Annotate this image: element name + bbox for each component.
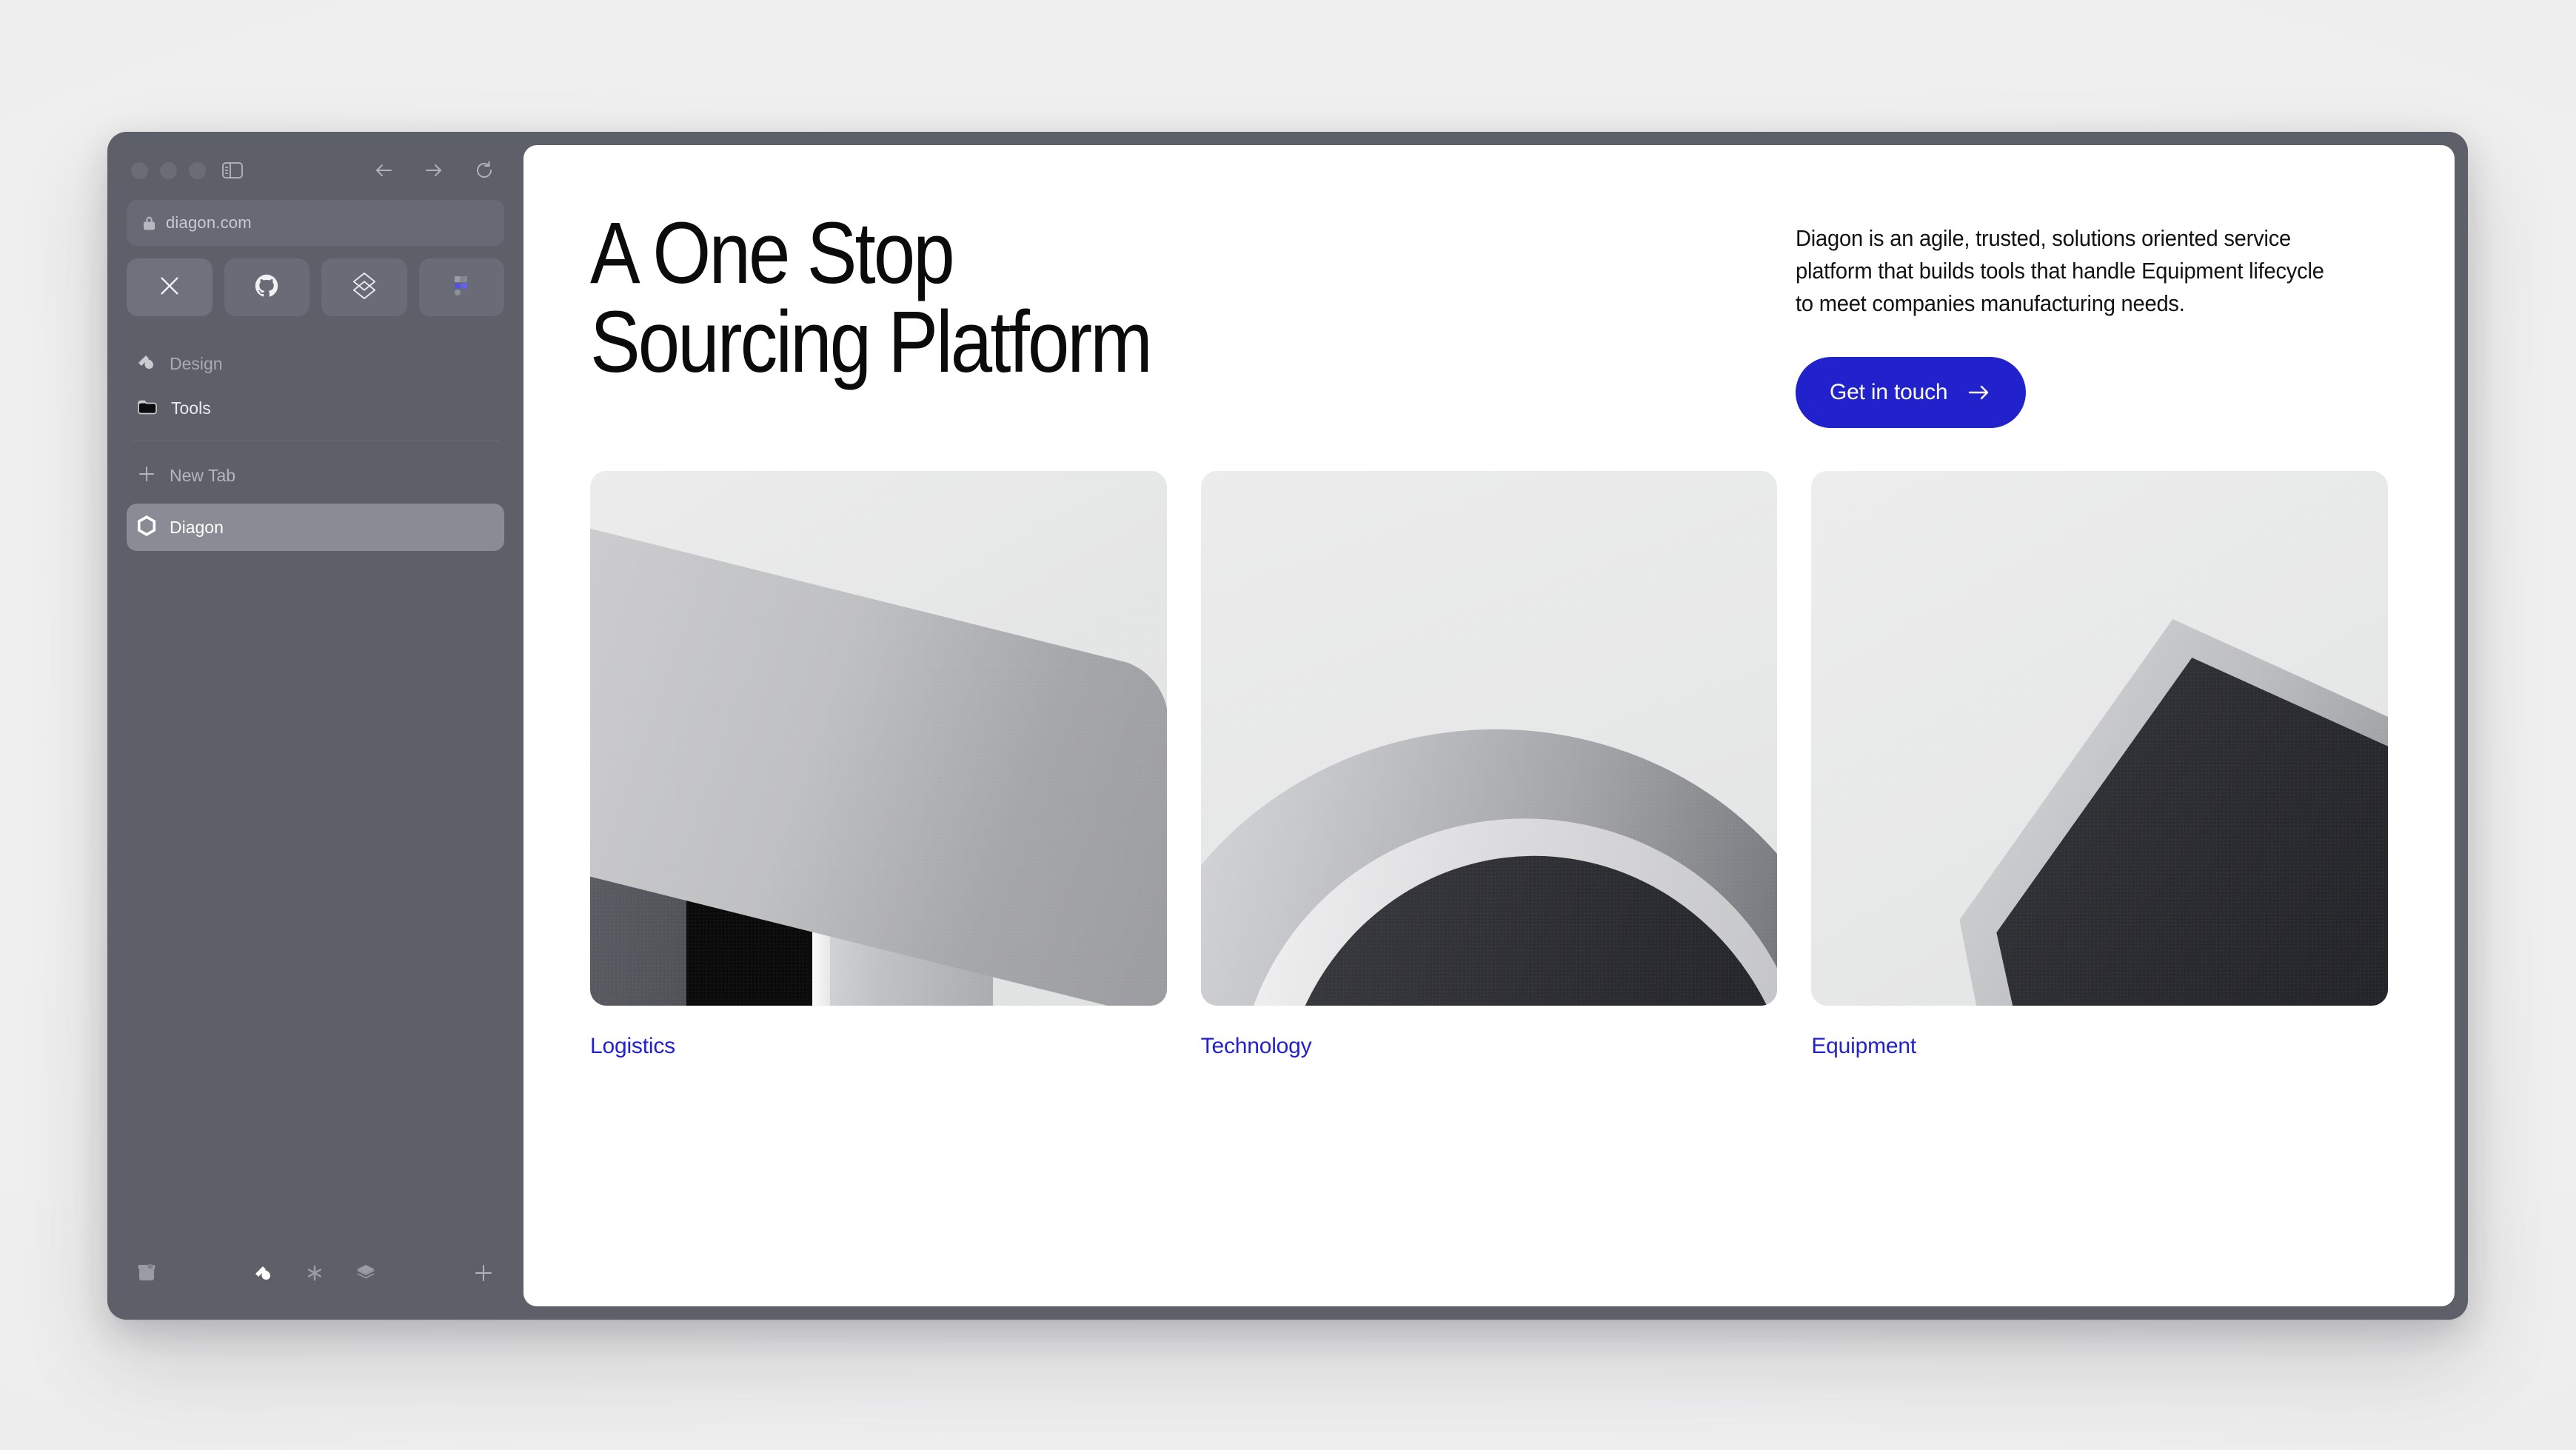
metallic-angled-panel-render [1811, 471, 2388, 1006]
sidebar-item-label: Tools [171, 398, 211, 418]
sidebar-item-tools[interactable]: Tools [127, 386, 504, 430]
sidebar-divider [131, 441, 500, 441]
get-in-touch-button[interactable]: Get in touch [1796, 357, 2026, 428]
page-title: A One Stop Sourcing Platform [590, 209, 1533, 387]
card-label[interactable]: Technology [1201, 1034, 1778, 1059]
address-bar-value: diagon.com [166, 213, 252, 233]
sidebar-sections: Design Tools New Tab [127, 341, 504, 551]
close-button[interactable] [131, 162, 148, 179]
navigation-actions [372, 159, 500, 181]
sidebar-item-design[interactable]: Design [127, 341, 504, 386]
card-technology[interactable]: Technology [1201, 471, 1778, 1059]
sidebar-toggle-icon[interactable] [222, 161, 243, 179]
pinned-tab-github[interactable] [224, 258, 310, 316]
asterisk-icon[interactable] [306, 1264, 324, 1286]
tab-label: Diagon [170, 518, 224, 538]
web-content: A One Stop Sourcing Platform Diagon is a… [523, 145, 2455, 1306]
sidebar-item-label: Design [170, 354, 223, 374]
metallic-dome-render [1201, 471, 1778, 1006]
plus-icon [137, 464, 156, 487]
x-icon [158, 275, 181, 301]
github-icon [255, 274, 278, 301]
archive-icon[interactable] [137, 1263, 156, 1287]
framer-drop-icon[interactable] [254, 1265, 273, 1285]
browser-sidebar: diagon.com [107, 132, 523, 1320]
hero-description: Diagon is an agile, trusted, solutions o… [1796, 222, 2346, 320]
cta-label: Get in touch [1830, 380, 1947, 405]
minimize-button[interactable] [160, 162, 177, 179]
hero-right-column: Diagon is an agile, trusted, solutions o… [1796, 209, 2381, 428]
maximize-button[interactable] [189, 162, 206, 179]
figma-icon [455, 276, 468, 299]
pinned-tab-framer[interactable] [321, 258, 407, 316]
layers-icon[interactable] [356, 1264, 375, 1286]
card-label[interactable]: Equipment [1811, 1034, 2388, 1059]
lock-icon [143, 216, 155, 231]
pinned-tab-x[interactable] [127, 258, 213, 316]
arrow-right-icon[interactable] [423, 159, 445, 181]
plus-icon[interactable] [473, 1263, 494, 1287]
folder-icon [137, 398, 158, 419]
framer-drop-icon [137, 354, 156, 374]
window-titlebar [127, 150, 504, 191]
tab-diagon[interactable]: Diagon [127, 504, 504, 551]
hero-section: A One Stop Sourcing Platform Diagon is a… [523, 145, 2455, 428]
reload-icon[interactable] [473, 159, 495, 181]
card-equipment[interactable]: Equipment [1811, 471, 2388, 1059]
category-cards: Logistics Technology [523, 428, 2455, 1059]
address-bar[interactable]: diagon.com [127, 200, 504, 246]
arrow-right-icon [1967, 380, 1992, 405]
new-tab-button[interactable]: New Tab [127, 455, 504, 496]
pinned-tabs [127, 258, 504, 316]
metallic-box-corner-render [590, 471, 1167, 1006]
sidebar-bottom-bar [127, 1243, 504, 1320]
sidebar-spacer [127, 551, 504, 1243]
card-logistics[interactable]: Logistics [590, 471, 1167, 1059]
diagon-hex-icon [137, 515, 156, 540]
browser-window: diagon.com [107, 132, 2468, 1320]
framer-icon [352, 272, 377, 304]
card-label[interactable]: Logistics [590, 1034, 1167, 1059]
new-tab-label: New Tab [170, 466, 235, 486]
pinned-tab-figma[interactable] [419, 258, 505, 316]
arrow-left-icon[interactable] [372, 159, 395, 181]
